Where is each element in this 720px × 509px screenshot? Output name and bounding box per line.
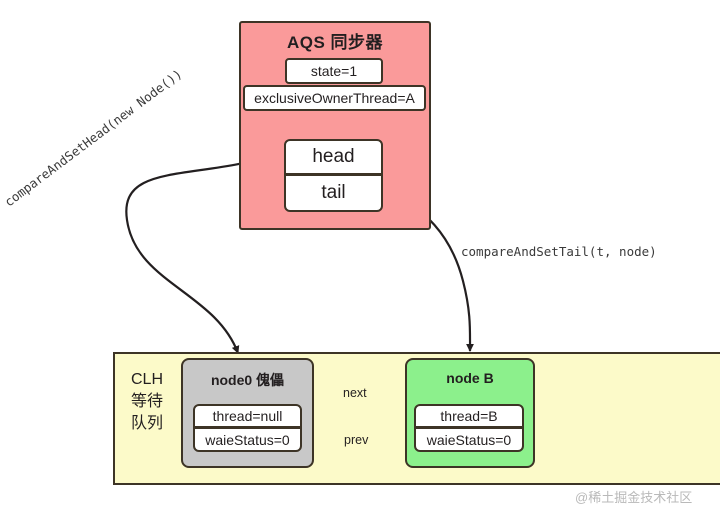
node-nodeb-field-waitstatus: waieStatus=0 <box>414 427 524 452</box>
aqs-field-state: state=1 <box>285 58 383 84</box>
node-node0-title: node0 傀儡 <box>183 370 312 390</box>
clh-label-line-1: CLH <box>118 369 176 391</box>
clh-label-line-2: 等待 <box>118 391 176 413</box>
clh-queue-label: CLH 等待 队列 <box>118 369 176 435</box>
aqs-pointer-head: head <box>284 139 383 175</box>
node-nodeb-field-thread: thread=B <box>414 404 524 428</box>
node-node0-field-thread: thread=null <box>193 404 302 428</box>
aqs-field-exclusive-owner-thread: exclusiveOwnerThread=A <box>243 85 426 111</box>
clh-label-line-3: 队列 <box>118 413 176 435</box>
diagram-canvas: AQS 同步器 state=1 exclusiveOwnerThread=A h… <box>0 0 720 509</box>
link-label-next: next <box>341 386 369 400</box>
aqs-title: AQS 同步器 <box>239 28 431 53</box>
edge-label-compare-and-set-head: compareAndSetHead(new Node()) <box>1 66 184 209</box>
node-nodeb-title: node B <box>407 370 533 386</box>
link-label-prev: prev <box>342 433 370 447</box>
watermark: @稀土掘金技术社区 <box>575 487 692 506</box>
aqs-pointer-tail: tail <box>284 174 383 212</box>
node-node0-field-waitstatus: waieStatus=0 <box>193 427 302 452</box>
edge-label-compare-and-set-tail: compareAndSetTail(t, node) <box>461 244 657 259</box>
